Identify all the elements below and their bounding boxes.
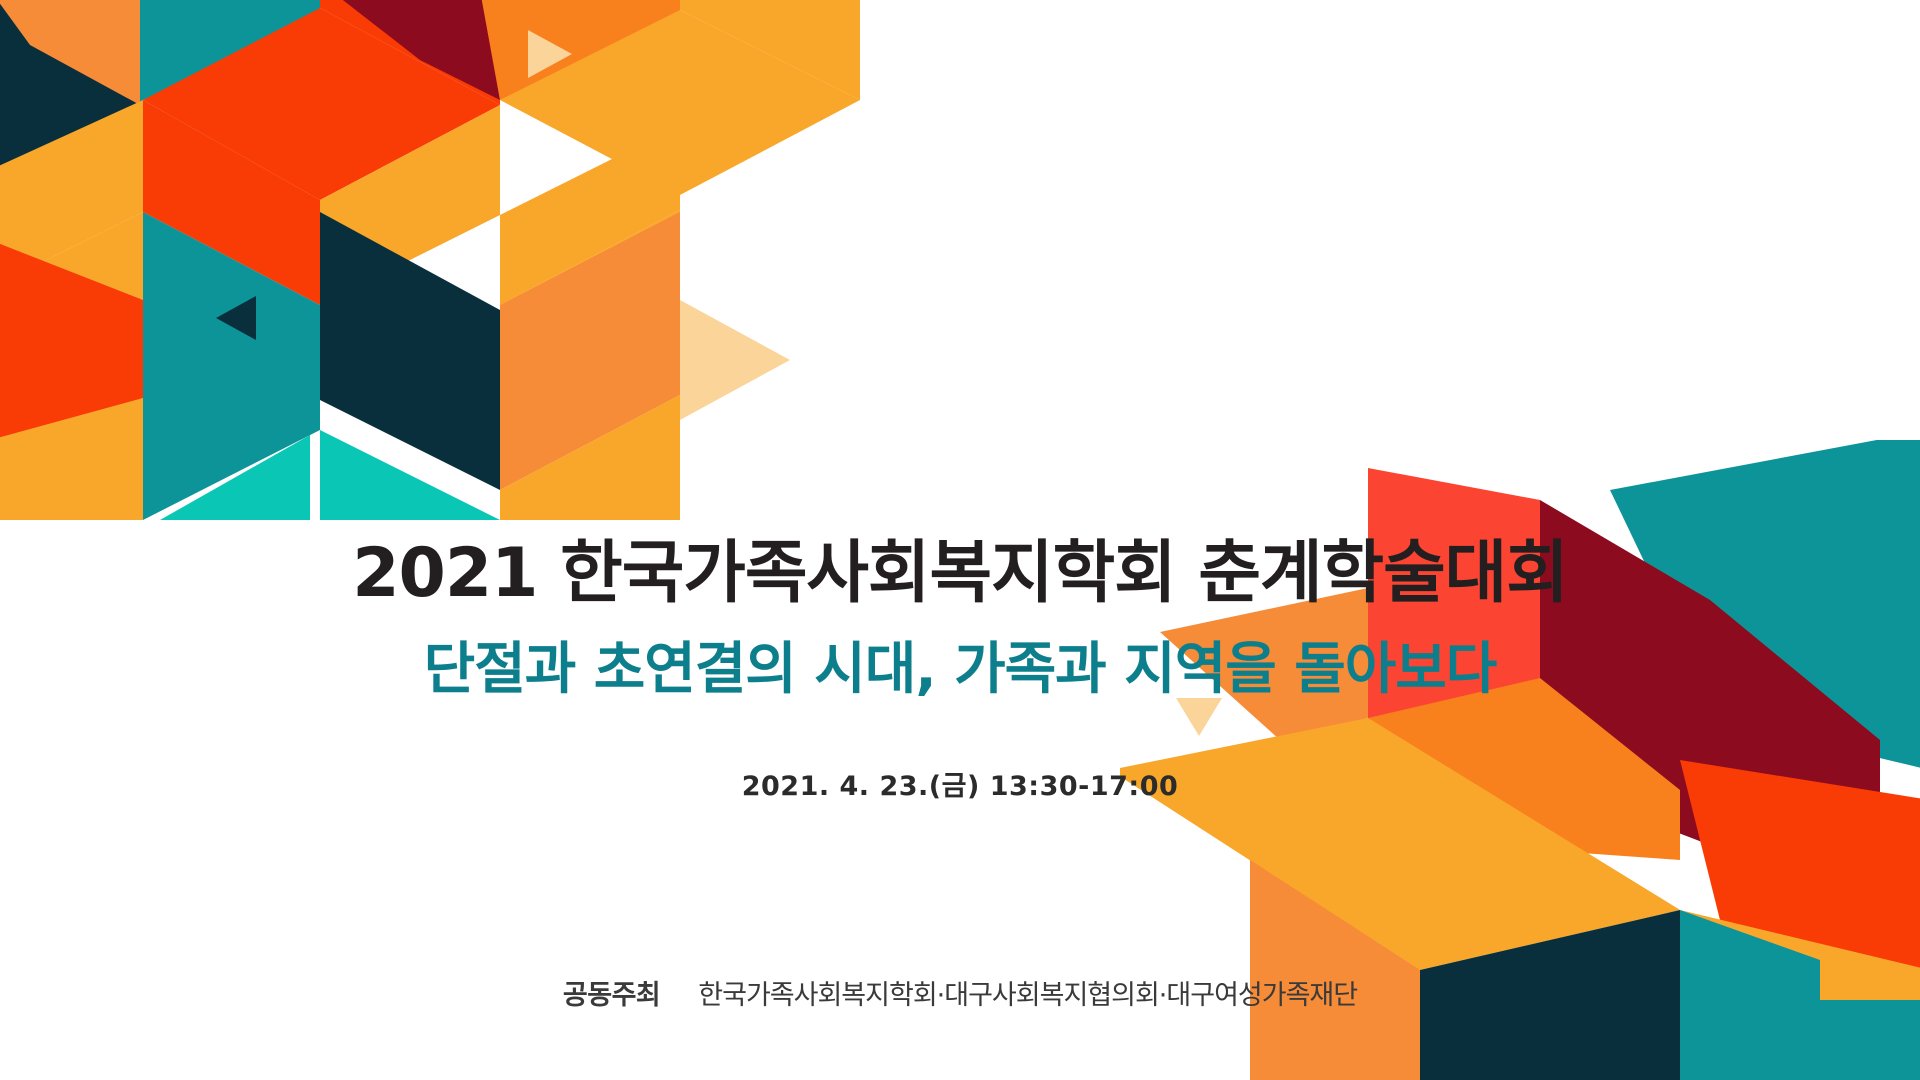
page-subtitle: 단절과 초연결의 시대, 가족과 지역을 돌아보다 bbox=[0, 642, 1920, 698]
page-title: 2021 한국가족사회복지학회 춘계학술대회 bbox=[0, 540, 1920, 608]
poster-canvas: 2021 한국가족사회복지학회 춘계학술대회 단절과 초연결의 시대, 가족과 … bbox=[0, 0, 1920, 1080]
event-datetime: 2021. 4. 23.(금) 13:30-17:00 bbox=[0, 773, 1920, 800]
poster-text-content: 2021 한국가족사회복지학회 춘계학술대회 단절과 초연결의 시대, 가족과 … bbox=[0, 0, 1920, 1080]
host-row: 공동주최 한국가족사회복지학회·대구사회복지협의회·대구여성가족재단 bbox=[0, 973, 1920, 1012]
host-label: 공동주최 bbox=[563, 973, 660, 1012]
host-organizations: 한국가족사회복지학회·대구사회복지협의회·대구여성가족재단 bbox=[698, 973, 1357, 1012]
